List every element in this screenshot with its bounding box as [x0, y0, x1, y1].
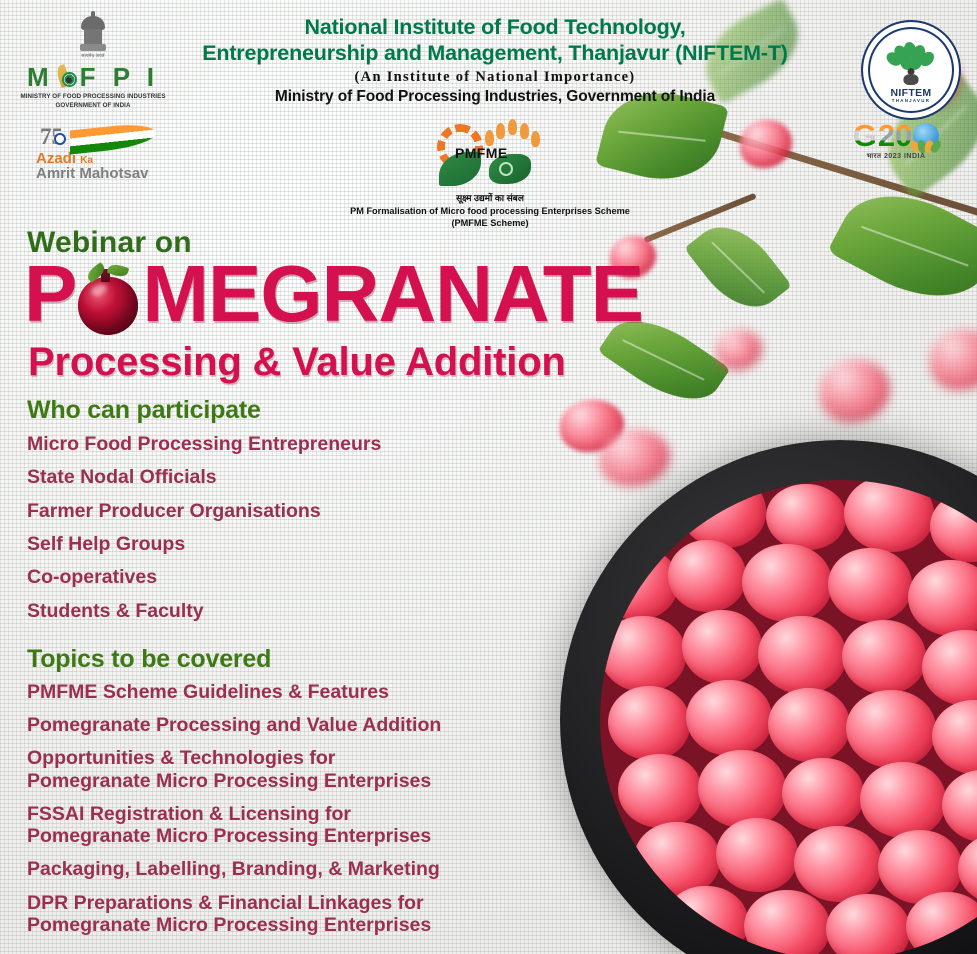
list-item: State Nodal Officials	[27, 467, 381, 489]
list-item: Co-operatives	[27, 567, 381, 589]
who-can-participate-list: Micro Food Processing Entrepreneurs Stat…	[27, 434, 381, 634]
mofpi-subtitle-line1: MINISTRY OF FOOD PROCESSING INDUSTRIES	[18, 92, 168, 101]
lotus-icon	[911, 138, 941, 153]
emblem-motto: सत्यमेव जयते	[80, 53, 106, 59]
pmfme-caption-line2: (PMFME Scheme)	[340, 218, 640, 230]
list-item: Micro Food Processing Entrepreneurs	[27, 434, 381, 456]
mofpi-logo: सत्यमेव जयते M F P I MINISTRY OF FOOD PR…	[18, 16, 168, 111]
list-item: Self Help Groups	[27, 534, 381, 556]
aril-field	[600, 480, 977, 954]
ministry-line: Ministry of Food Processing Industries, …	[150, 88, 840, 106]
list-item: PMFME Scheme Guidelines & Features	[27, 681, 441, 703]
pomegranate-fruit-icon	[74, 265, 144, 335]
who-can-participate-heading: Who can participate	[27, 396, 261, 425]
bowl-interior	[600, 480, 977, 954]
ashoka-emblem-icon: सत्यमेव जयते	[80, 16, 106, 62]
list-item: Opportunities & Technologies for Pomegra…	[27, 747, 441, 791]
ashoka-chakra-icon	[54, 133, 66, 145]
topics-list: PMFME Scheme Guidelines & Features Pomeg…	[27, 681, 441, 947]
globe-icon	[913, 123, 939, 149]
pmfme-logo: PMFME सूक्ष्म उद्यमों का संबल PM Formali…	[340, 118, 640, 230]
title-letter-p: P	[24, 249, 76, 338]
institute-importance: (An Institute of National Importance)	[150, 69, 840, 86]
g20-g: G	[853, 120, 877, 151]
list-item: FSSAI Registration & Licensing for Pomeg…	[27, 803, 441, 847]
list-item: Packaging, Labelling, Branding, & Market…	[27, 858, 441, 880]
institute-title-line1: National Institute of Food Technology,	[150, 14, 840, 40]
list-item: Farmer Producer Organisations	[27, 501, 381, 523]
page-title: P MEGRANATE	[24, 258, 643, 335]
pmfme-mark: PMFME	[431, 118, 549, 190]
tricolour-wave-icon	[70, 121, 156, 154]
mofpi-subtitle-line2: GOVERNMENT OF INDIA	[18, 101, 168, 110]
list-item: Students & Faculty	[27, 601, 381, 623]
mofpi-wordmark: M F P I	[18, 64, 168, 90]
tree-icon	[888, 43, 934, 69]
page-subtitle: Processing & Value Addition	[28, 340, 566, 385]
institute-title-block: National Institute of Food Technology, E…	[150, 14, 840, 106]
pmfme-caption-line1: PM Formalisation of Micro food processin…	[340, 206, 640, 218]
pomegranate-bowl-photo	[560, 440, 977, 954]
list-item: DPR Preparations & Financial Linkages fo…	[27, 892, 441, 936]
azadi-line2a: Amrit	[36, 165, 75, 182]
g20-20: 20	[878, 120, 912, 151]
institute-title-line2: Entrepreneurship and Management, Thanjav…	[150, 40, 840, 66]
pmfme-hindi-tagline: सूक्ष्म उद्यमों का संबल	[340, 191, 640, 204]
azadi-ka-amrit-mahotsav-logo: 75 Azadi Ka Amrit Mahotsav	[36, 126, 166, 182]
title-rest: MEGRANATE	[142, 249, 643, 338]
topics-heading: Topics to be covered	[27, 645, 271, 674]
meditating-figure-icon	[901, 68, 921, 88]
niftem-place: THANJAVUR	[892, 98, 930, 103]
azadi-line2b: Mahotsav	[79, 165, 148, 182]
g20-logo: G 20 भारत 2023 INDIA	[837, 120, 955, 161]
g20-subtitle: भारत 2023 INDIA	[837, 152, 955, 161]
pmfme-mark-text: PMFME	[455, 145, 508, 161]
niftem-name: NIFTEM	[891, 88, 932, 99]
list-item: Pomegranate Processing and Value Additio…	[27, 714, 441, 736]
poster-header: सत्यमेव जयते M F P I MINISTRY OF FOOD PR…	[0, 0, 977, 120]
wheat-chakra-icon	[55, 65, 79, 89]
webinar-poster: सत्यमेव जयते M F P I MINISTRY OF FOOD PR…	[0, 0, 977, 954]
niftem-logo: NIFTEM THANJAVUR	[861, 20, 961, 120]
